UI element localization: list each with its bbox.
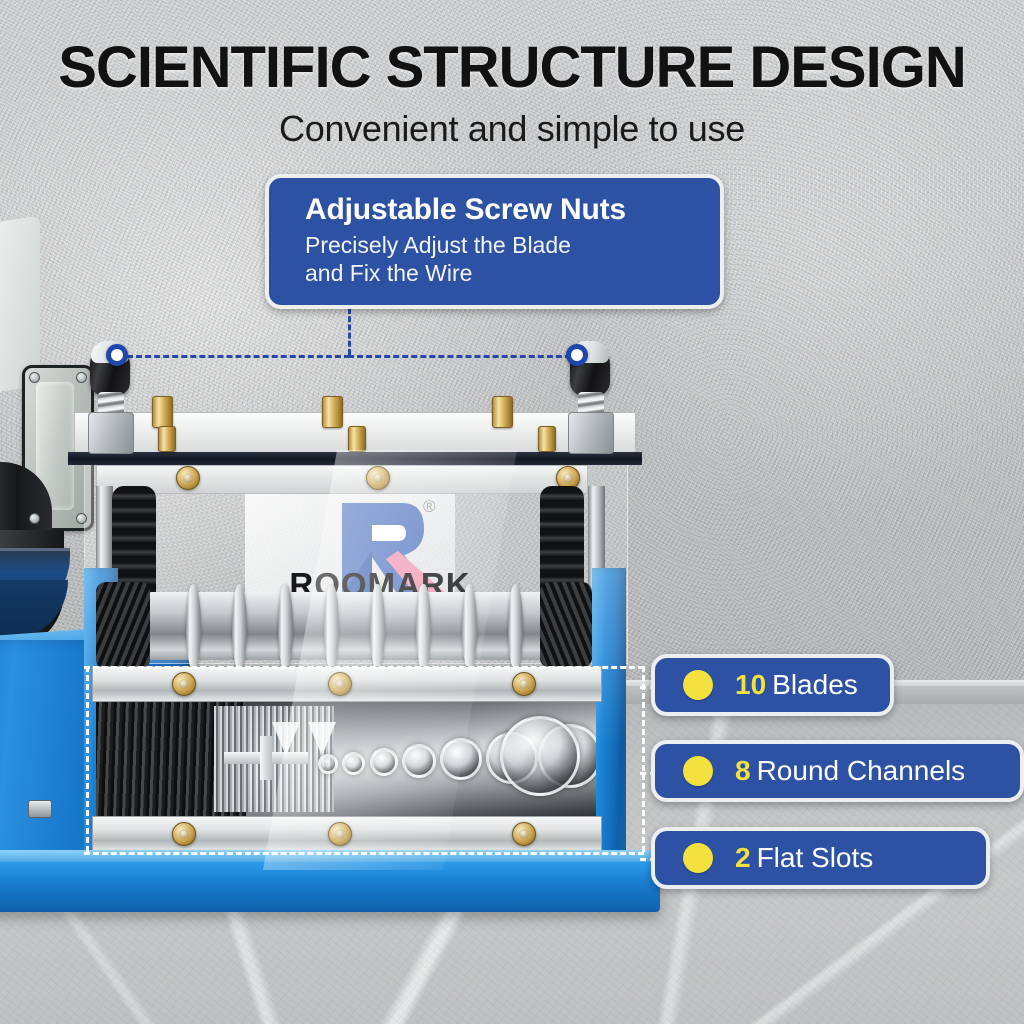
feature-name: Round Channels	[757, 755, 966, 786]
cover-screw	[29, 372, 40, 383]
registered-trademark-icon: ®	[423, 497, 436, 517]
rail-screw	[172, 672, 196, 696]
rail-screw	[328, 672, 352, 696]
flat-slot	[272, 722, 300, 756]
round-channel	[370, 748, 398, 776]
feature-label: 2Flat Slots	[735, 842, 873, 874]
clamp-block-right	[568, 412, 614, 454]
feature-count: 8	[735, 755, 751, 786]
rail-screw	[512, 822, 536, 846]
brass-stud	[492, 396, 513, 428]
bullet-dot-icon	[683, 756, 713, 786]
leader-line-left	[118, 355, 350, 358]
bullet-dot-icon	[683, 843, 713, 873]
blade-disc	[278, 584, 293, 670]
blade-disc	[462, 584, 477, 670]
feature-region-line-top	[84, 666, 644, 669]
page-subtitle: Convenient and simple to use	[0, 108, 1024, 150]
round-channel	[318, 754, 338, 774]
round-channel	[440, 738, 482, 780]
cover-screw	[76, 513, 87, 524]
blade-disc	[508, 584, 523, 670]
feature-badge-flat-slots[interactable]: 2Flat Slots	[651, 827, 990, 889]
leader-line-right	[348, 355, 580, 358]
blade-disc	[416, 584, 431, 670]
cutting-head-window	[96, 700, 596, 818]
callout-desc-line2: and Fix the Wire	[305, 259, 694, 287]
clamp-block-left	[88, 412, 134, 454]
feature-region-line-left	[86, 666, 89, 852]
drive-gear-right	[540, 582, 592, 668]
round-channel	[402, 744, 436, 778]
brass-screw	[366, 466, 390, 490]
feature-badge-round-channels[interactable]: 8Round Channels	[651, 740, 1024, 802]
leader-line-vertical	[348, 308, 351, 355]
rail-screw	[328, 822, 352, 846]
feature-label: 8Round Channels	[735, 755, 965, 787]
page-title: SCIENTIFIC STRUCTURE DESIGN	[0, 34, 1024, 101]
feature-count: 2	[735, 842, 751, 873]
brass-stud	[322, 396, 343, 428]
feature-name: Flat Slots	[757, 842, 874, 873]
brass-stud	[538, 426, 556, 452]
callout-adjustable-screw-nuts[interactable]: Adjustable Screw Nuts Precisely Adjust t…	[265, 174, 724, 309]
blade-disc	[370, 584, 385, 670]
chassis-bolt	[28, 800, 52, 818]
leader-endpoint-marker-left	[106, 344, 128, 366]
callout-desc-line1: Precisely Adjust the Blade	[305, 231, 694, 259]
feature-region-line-right	[642, 666, 645, 852]
feature-region-line-bottom	[84, 852, 644, 855]
leader-endpoint-marker-right	[566, 344, 588, 366]
round-channel	[500, 716, 580, 796]
secondary-steel-bar	[96, 465, 588, 494]
feature-name: Blades	[772, 669, 858, 700]
brass-stud	[348, 426, 366, 452]
blade-disc	[324, 584, 339, 670]
top-bar-dark-edge	[68, 452, 642, 465]
cover-screw	[29, 513, 40, 524]
machine-plinth	[0, 862, 660, 912]
feature-badge-blades[interactable]: 10Blades	[651, 654, 894, 716]
blade-disc	[232, 584, 247, 670]
bullet-dot-icon	[683, 670, 713, 700]
callout-title: Adjustable Screw Nuts	[305, 192, 694, 227]
drive-gear-left	[96, 582, 150, 670]
brass-screw	[176, 466, 200, 490]
brass-stud	[158, 426, 176, 452]
rail-screw	[512, 672, 536, 696]
feature-label: 10Blades	[735, 669, 858, 701]
feature-count: 10	[735, 669, 766, 700]
rail-screw	[172, 822, 196, 846]
blade-disc	[186, 584, 201, 670]
brass-stud	[152, 396, 173, 428]
flat-slot	[308, 722, 336, 756]
infographic-canvas: SCIENTIFIC STRUCTURE DESIGN Convenient a…	[0, 0, 1024, 1024]
round-channel	[342, 752, 365, 775]
cover-screw	[76, 372, 87, 383]
